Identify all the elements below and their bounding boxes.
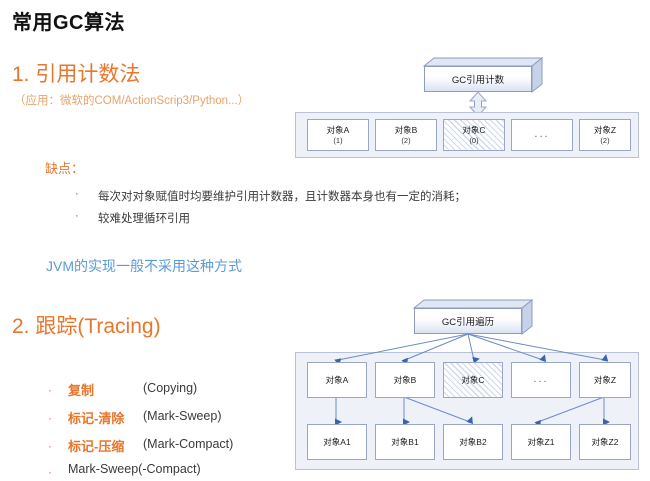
- diagram1-object-box: 对象Z (2): [579, 119, 631, 151]
- object-label: 对象A: [326, 375, 349, 386]
- diagram2-row2-box: 对象B2: [443, 424, 503, 460]
- diagram2-row2-box: 对象B1: [375, 424, 435, 460]
- tracing-item-2-en: (Mark-Compact): [143, 437, 233, 451]
- tracing-bullet-icon: ·: [48, 411, 52, 425]
- object-label: 对象Z2: [592, 437, 619, 448]
- diagram2-row1-box-ellipsis: ...: [511, 362, 571, 398]
- object-label: 对象A1: [323, 437, 350, 448]
- diagram2-row1-box: 对象B: [375, 362, 435, 398]
- tracing-bullet-icon: ·: [48, 465, 52, 479]
- object-label: 对象B2: [459, 437, 486, 448]
- slide-canvas: 常用GC算法 1. 引用计数法 （应用：微软的COM/ActionScrip3/…: [0, 0, 650, 481]
- drawback-item-1: 较难处理循环引用: [98, 210, 190, 226]
- section-2-heading: 2. 跟踪(Tracing): [12, 310, 161, 340]
- object-count: (0): [469, 136, 478, 145]
- object-label: 对象Z: [594, 125, 616, 136]
- diagram2-header-label: GC引用遍历: [414, 308, 522, 334]
- diagram1-object-box: 对象B (2): [375, 119, 437, 151]
- diagram2-row1-box-collectable: 对象C: [443, 362, 503, 398]
- drawback-label: 缺点：: [45, 158, 84, 177]
- tracing-item-2-cn: 标记-压缩: [68, 436, 124, 455]
- object-label: 对象B1: [391, 437, 418, 448]
- drawback-bullet-icon: ·: [75, 188, 79, 200]
- object-label: 对象Z1: [528, 437, 555, 448]
- object-label: ...: [533, 373, 548, 387]
- diagram2-row2-box: 对象Z2: [579, 424, 631, 460]
- section-1-subtitle: （应用：微软的COM/ActionScrip3/Python...）: [14, 92, 249, 108]
- page-title: 常用GC算法: [12, 6, 125, 35]
- diagram2-row2-box: 对象Z1: [511, 424, 571, 460]
- diagram1-object-box: 对象A (1): [307, 119, 369, 151]
- diagram1-header-box: GC引用计数: [424, 58, 532, 92]
- object-count: (2): [401, 136, 410, 145]
- section-1-heading: 1. 引用计数法: [12, 58, 140, 88]
- jvm-note: JVM的实现一般不采用这种方式: [46, 256, 242, 276]
- diagram1-object-box-collectable: 对象C (0): [443, 119, 505, 151]
- diagram2-row1-box: 对象A: [307, 362, 367, 398]
- tracing-item-3-en: Mark-Sweep(-Compact): [68, 462, 201, 476]
- tracing-item-1-en: (Mark-Sweep): [143, 409, 222, 423]
- diagram2-row1-box: 对象Z: [579, 362, 631, 398]
- tracing-bullet-icon: ·: [48, 439, 52, 453]
- object-label: 对象B: [394, 375, 417, 386]
- diagram2-header-box: GC引用遍历: [414, 300, 522, 334]
- tracing-item-1-cn: 标记-清除: [68, 408, 124, 427]
- object-count: (1): [333, 136, 342, 145]
- object-label: 对象A: [327, 125, 350, 136]
- object-label: 对象C: [462, 125, 485, 136]
- diagram2-row2-box: 对象A1: [307, 424, 367, 460]
- tracing-item-0-en: (Copying): [143, 381, 197, 395]
- object-label: 对象C: [461, 375, 484, 386]
- diagram1-object-box-ellipsis: ...: [511, 119, 573, 151]
- drawback-bullet-icon: ·: [75, 210, 79, 222]
- object-label: 对象Z: [594, 375, 616, 386]
- object-label: 对象B: [395, 125, 418, 136]
- object-count: (2): [600, 136, 609, 145]
- tracing-item-0-cn: 复制: [68, 380, 94, 399]
- object-label: ...: [534, 128, 549, 142]
- diagram1-header-label: GC引用计数: [424, 66, 532, 92]
- drawback-item-0: 每次对对象赋值时均要维护引用计数器，且计数器本身也有一定的消耗；: [98, 188, 466, 204]
- tracing-bullet-icon: ·: [48, 383, 52, 397]
